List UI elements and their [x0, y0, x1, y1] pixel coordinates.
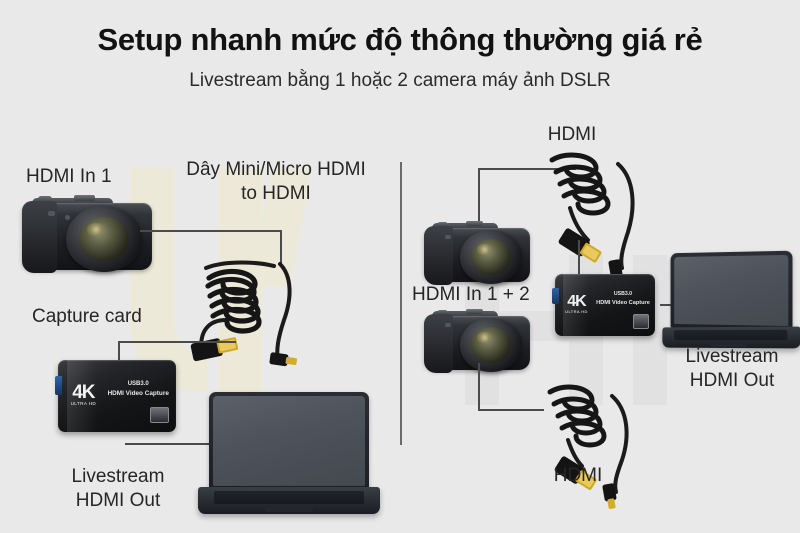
label-hdmi-in-1: HDMI In 1	[26, 165, 112, 189]
capture-card-icon-left: 4K ULTRA HD USB3.0 HDMI Video Capture	[58, 360, 176, 432]
label-hdmi-bottom-right: HDMI	[518, 464, 638, 488]
connector-line-cable-card-right	[578, 240, 580, 276]
capture-card-usb-label-right: USB3.0	[595, 291, 651, 299]
diagram-canvas: Setup nhanh mức độ thông thường giá rẻ L…	[0, 0, 800, 533]
laptop-icon-left	[198, 392, 380, 514]
laptop-icon-right	[658, 252, 800, 348]
capture-card-4k-logo-right: 4K ULTRA HD	[564, 290, 589, 319]
connector-line-cam1-v	[478, 168, 480, 224]
usb-connector-right	[552, 288, 559, 304]
connector-line-cam2-h	[478, 409, 544, 411]
connector-line-cam-cable-h	[140, 230, 282, 232]
page-title: Setup nhanh mức độ thông thường giá rẻ	[0, 22, 800, 58]
capture-card-4k-logo-left: 4K ULTRA HD	[69, 379, 99, 412]
label-livestream-hdmi-out-left: Livestream HDMI Out	[48, 465, 188, 513]
capture-card-name-left: HDMI Video Capture	[105, 389, 171, 399]
label-hdmi-in-1-2: HDMI In 1 + 2	[412, 283, 530, 307]
page-subtitle: Livestream bằng 1 hoặc 2 camera máy ảnh …	[0, 70, 800, 92]
hdmi-port-left	[150, 407, 169, 423]
connector-line-cam2-v	[478, 363, 480, 409]
label-hdmi-top-right: HDMI	[512, 123, 632, 147]
usb-connector-left	[55, 376, 62, 395]
label-mini-micro-hdmi-cable: Dây Mini/Micro HDMI to HDMI	[168, 158, 384, 206]
capture-card-name-right: HDMI Video Capture	[595, 299, 651, 307]
capture-card-icon-right: 4K ULTRA HD USB3.0 HDMI Video Capture	[555, 274, 655, 336]
label-livestream-hdmi-out-right: Livestream HDMI Out	[662, 345, 800, 393]
hdmi-cable-icon-left	[196, 258, 316, 368]
camera-icon-right-top	[424, 222, 530, 292]
vertical-divider	[400, 162, 402, 445]
capture-card-usb-label-left: USB3.0	[105, 380, 171, 389]
hdmi-cable-icon-right-top	[548, 148, 658, 270]
camera-icon-left	[22, 196, 152, 282]
label-capture-card: Capture card	[32, 305, 142, 329]
hdmi-port-right	[633, 314, 649, 328]
connector-line-card-h	[118, 341, 236, 343]
camera-icon-right-bottom	[424, 310, 530, 380]
